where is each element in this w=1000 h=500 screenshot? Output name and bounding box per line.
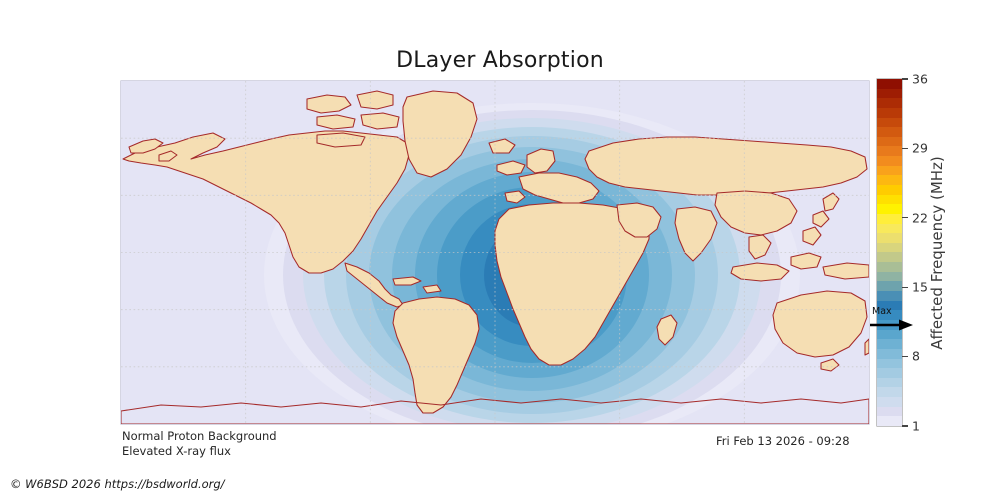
colorbar-segment-31 <box>877 118 902 128</box>
colorbar-strip <box>877 79 902 426</box>
colorbar-tick-dash <box>902 78 908 79</box>
arctic-island-2 <box>357 91 393 109</box>
colorbar-segment-14 <box>877 281 902 291</box>
colorbar-segment-0 <box>877 416 902 426</box>
colorbar-segment-17 <box>877 252 902 262</box>
colorbar-segment-13 <box>877 291 902 301</box>
dlayer-absorption-app: DLayer Absorption <box>0 0 1000 500</box>
arctic-island-4 <box>361 113 399 129</box>
colorbar-segment-28 <box>877 146 902 156</box>
copyright-credit: © W6BSD 2026 https://bsdworld.org/ <box>10 477 225 491</box>
colorbar-segment-32 <box>877 108 902 118</box>
colorbar-segment-4 <box>877 378 902 388</box>
colorbar-segment-5 <box>877 368 902 378</box>
colorbar-segment-11 <box>877 310 902 320</box>
colorbar-tick-dash <box>902 356 908 357</box>
colorbar-segment-24 <box>877 185 902 195</box>
xray-flux-note: Elevated X-ray flux <box>122 444 277 459</box>
map-canvas <box>121 81 869 424</box>
colorbar-segment-18 <box>877 243 902 253</box>
colorbar-axis-label: Affected Frequency (MHz) <box>925 79 949 426</box>
colorbar-tick-dash <box>902 425 908 426</box>
colorbar-axis-label-text: Affected Frequency (MHz) <box>928 156 946 350</box>
colorbar-segment-23 <box>877 195 902 205</box>
colorbar-segment-2 <box>877 397 902 407</box>
colorbar-segment-10 <box>877 320 902 330</box>
colorbar-tick-label: 8 <box>912 351 920 364</box>
page-title: DLayer Absorption <box>0 48 1000 73</box>
colorbar-segment-22 <box>877 204 902 214</box>
colorbar-segment-7 <box>877 349 902 359</box>
colorbar-segment-25 <box>877 175 902 185</box>
colorbar-tick-dash <box>902 148 908 149</box>
hispaniola <box>423 285 441 293</box>
colorbar-tick-dash <box>902 217 908 218</box>
timestamp: Fri Feb 13 2026 - 09:28 <box>716 434 850 448</box>
colorbar-segment-8 <box>877 339 902 349</box>
colorbar-segment-29 <box>877 137 902 147</box>
colorbar-tick-label: 1 <box>912 420 920 433</box>
colorbar-segment-6 <box>877 359 902 369</box>
colorbar-segment-20 <box>877 224 902 234</box>
colorbar-segment-34 <box>877 89 902 99</box>
colorbar-segment-9 <box>877 330 902 340</box>
colorbar-segment-1 <box>877 407 902 417</box>
colorbar-segment-27 <box>877 156 902 166</box>
colorbar-segment-15 <box>877 272 902 282</box>
colorbar-segment-33 <box>877 98 902 108</box>
colorbar[interactable] <box>877 79 902 426</box>
map-svg <box>121 81 869 424</box>
status-notes: Normal Proton Background Elevated X-ray … <box>122 429 277 459</box>
world-map-axes[interactable] <box>121 81 869 424</box>
colorbar-segment-19 <box>877 233 902 243</box>
proton-background-note: Normal Proton Background <box>122 429 277 444</box>
colorbar-segment-30 <box>877 127 902 137</box>
colorbar-segment-3 <box>877 387 902 397</box>
colorbar-segment-21 <box>877 214 902 224</box>
colorbar-segment-26 <box>877 166 902 176</box>
colorbar-tick-dash <box>902 287 908 288</box>
colorbar-segment-12 <box>877 301 902 311</box>
colorbar-segment-35 <box>877 79 902 89</box>
colorbar-segment-16 <box>877 262 902 272</box>
